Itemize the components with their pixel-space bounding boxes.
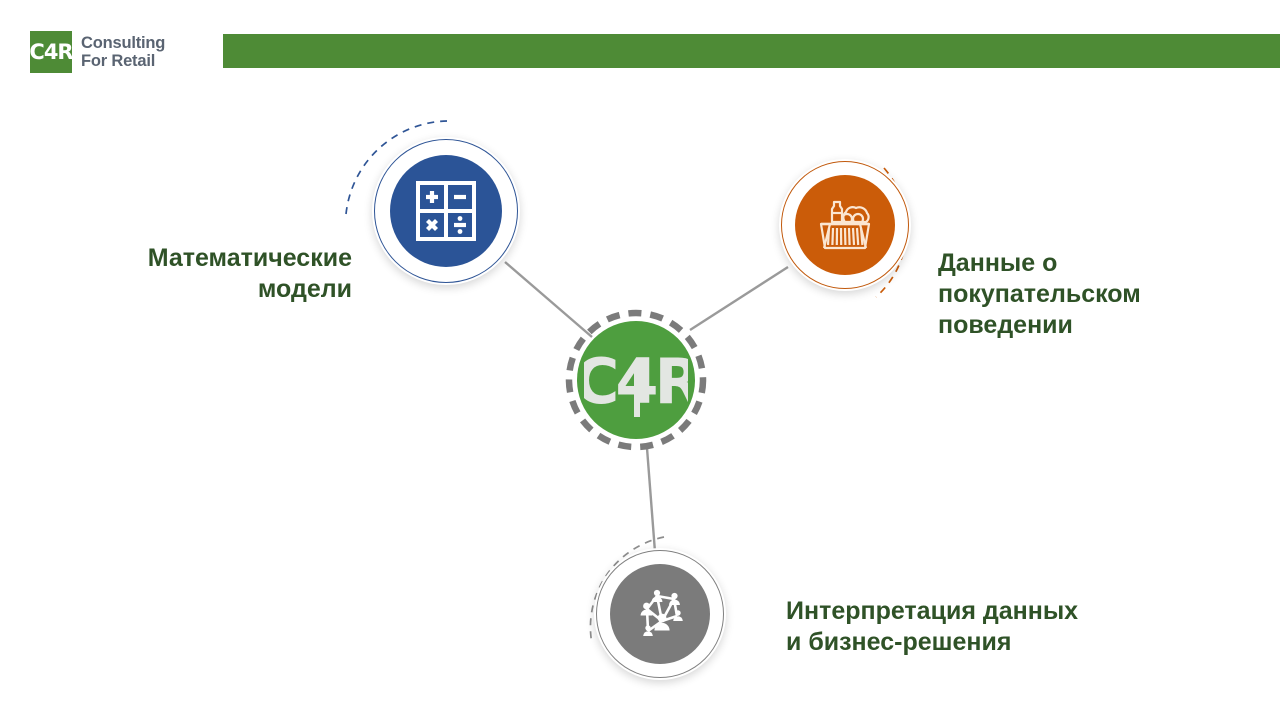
label-shopper-data: Данные о покупательском поведении <box>938 248 1238 341</box>
node-shopper-data[interactable] <box>779 159 911 291</box>
label-interpretation: Интерпретация данных и бизнес-решения <box>786 596 1206 658</box>
center-node-c4r[interactable]: C4R <box>566 310 706 450</box>
node-math-disc <box>390 155 502 267</box>
label-basket-line2: покупательском <box>938 279 1238 310</box>
node-interpretation[interactable] <box>594 548 726 680</box>
node-basket-disc <box>795 175 895 275</box>
connector-math-to-center <box>505 262 592 337</box>
center-c4r-logo-icon: C4R <box>584 341 688 419</box>
label-people-line1: Интерпретация данных <box>786 596 1206 627</box>
label-math-line1: Математические <box>60 243 352 274</box>
center-c4r-stem <box>634 365 640 417</box>
connector-basket-to-center <box>690 267 788 330</box>
center-node-disc: C4R <box>577 321 695 439</box>
label-people-line2: и бизнес-решения <box>786 627 1206 658</box>
connector-people-to-center <box>647 448 655 552</box>
people-network-icon <box>627 583 693 645</box>
node-math-models[interactable] <box>372 137 520 285</box>
label-math-line2: модели <box>60 274 352 305</box>
label-basket-line1: Данные о <box>938 248 1238 279</box>
label-math-models: Математические модели <box>60 243 352 305</box>
calculator-icon <box>414 179 478 243</box>
shopping-basket-icon <box>814 196 876 254</box>
node-people-disc <box>610 564 710 664</box>
label-basket-line3: поведении <box>938 310 1238 341</box>
